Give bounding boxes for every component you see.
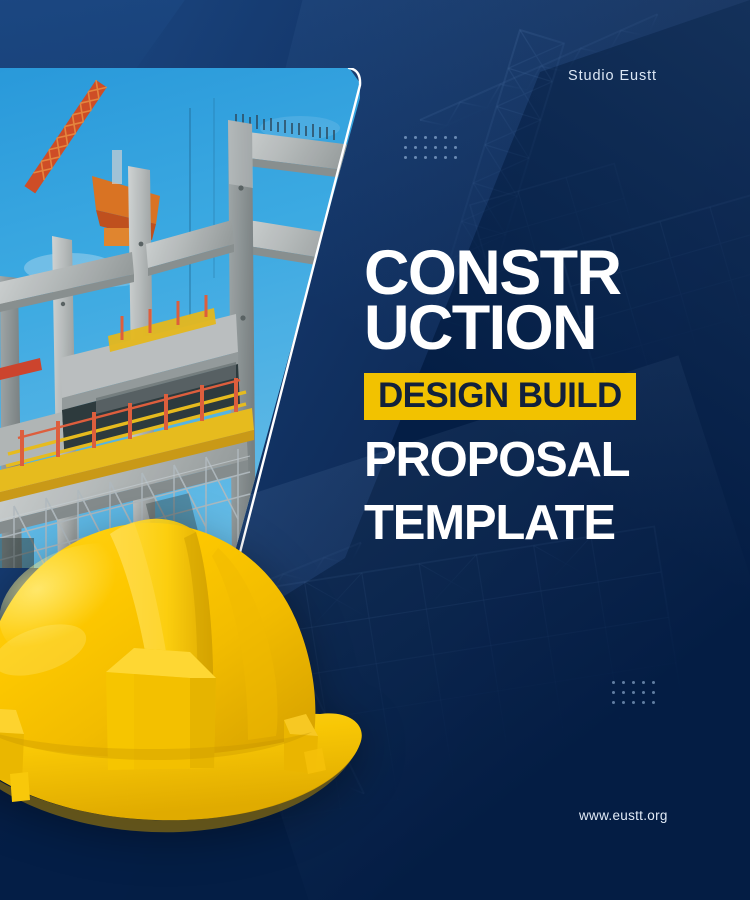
headline-block: CONSTR UCTION DESIGN BUILD PROPOSAL TEMP… xyxy=(364,246,704,546)
poster-canvas: Studio Eustt CONSTR UCTION DESIGN BUILD … xyxy=(0,0,750,900)
design-build-badge: DESIGN BUILD xyxy=(364,373,636,420)
headline-line-4: TEMPLATE xyxy=(364,501,704,546)
headline-line-3: PROPOSAL xyxy=(364,438,704,483)
website-url[interactable]: www.eustt.org xyxy=(579,808,668,823)
headline-line-2: UCTION xyxy=(364,301,704,356)
dot-grid-top xyxy=(404,136,457,159)
yellow-hard-hat-icon xyxy=(0,452,408,844)
brand-name: Studio Eustt xyxy=(568,68,657,84)
dot-grid-bottom xyxy=(612,681,655,704)
